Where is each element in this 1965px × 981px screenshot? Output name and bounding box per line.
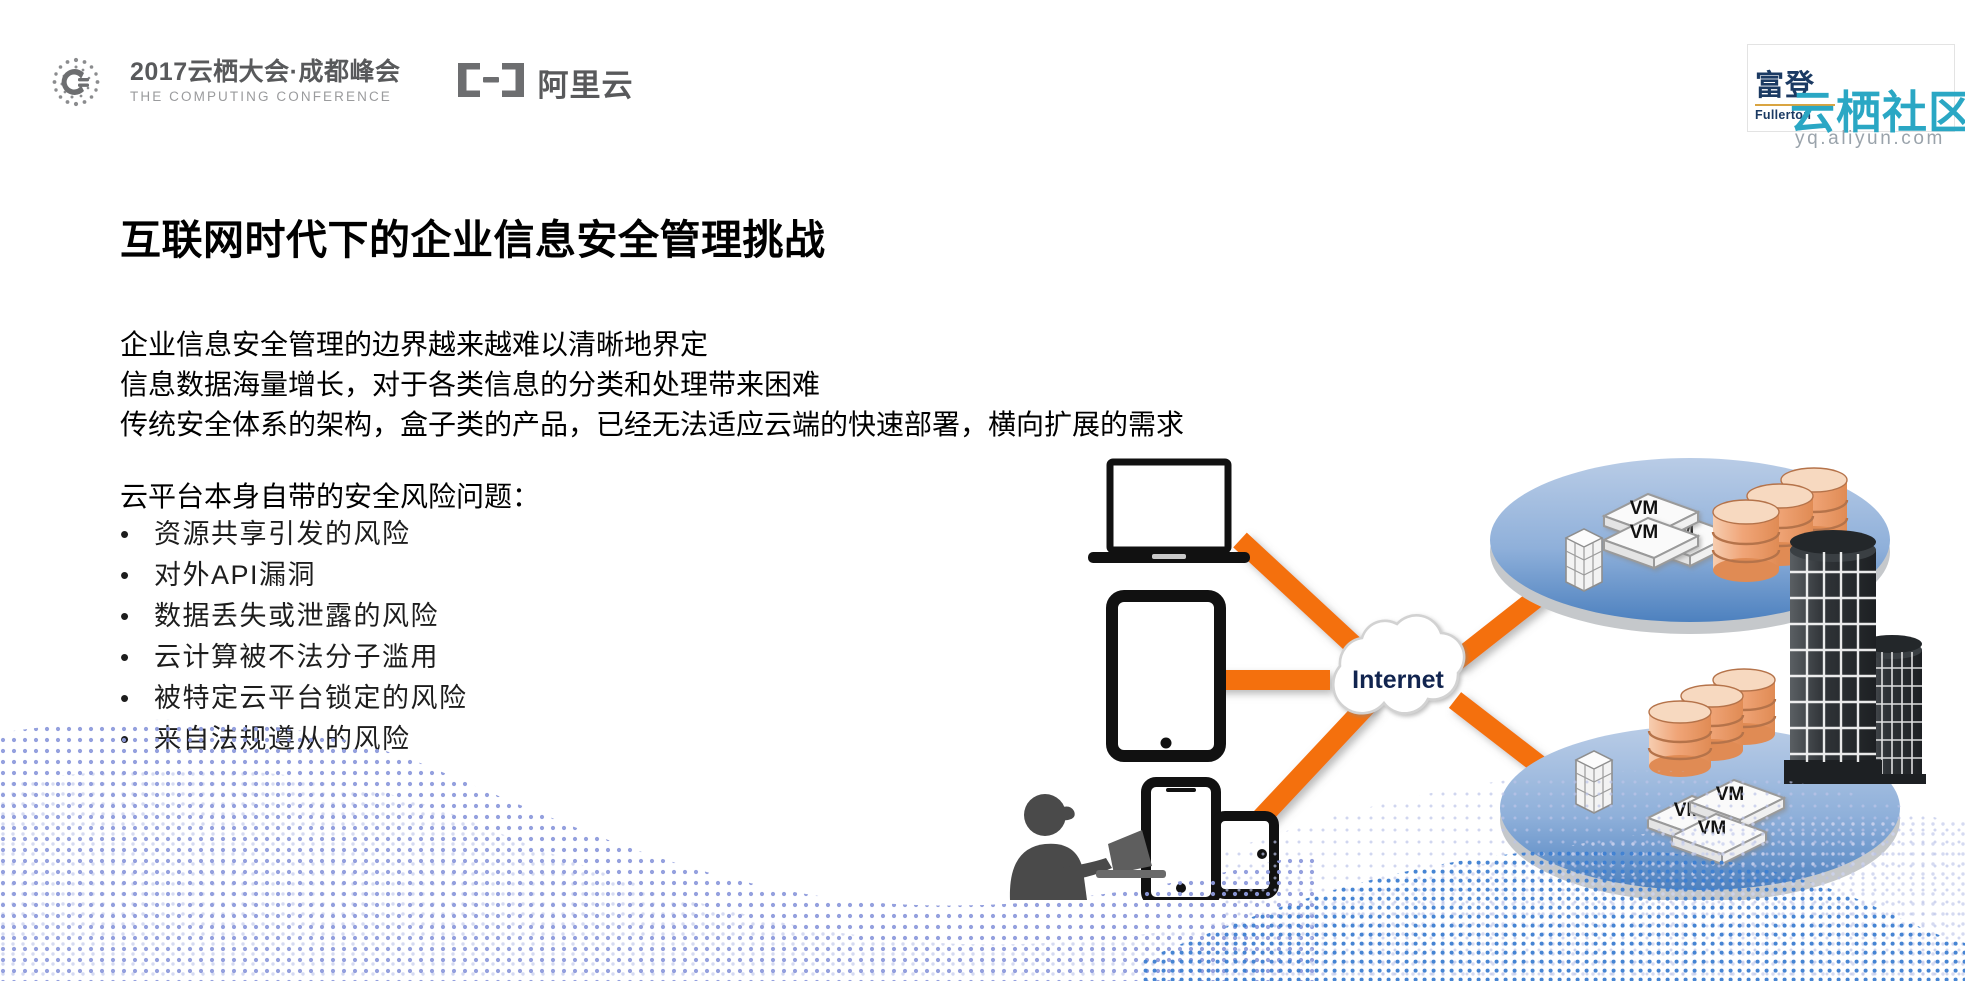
- internet-cloud: Internet: [1333, 615, 1464, 713]
- database-icon: [1649, 701, 1711, 777]
- list-item: • 来自法规遵从的风险: [120, 717, 468, 758]
- bullet-marker-icon: •: [120, 726, 154, 752]
- office-buildings-icon: [1784, 530, 1926, 784]
- list-item-label: 云计算被不法分子滥用: [154, 635, 439, 674]
- aliyun-bracket-icon: [454, 60, 528, 105]
- list-item-label: 被特定云平台锁定的风险: [154, 676, 468, 715]
- laptop-icon: [1088, 462, 1250, 563]
- bullet-marker-icon: •: [120, 603, 154, 629]
- list-item-label: 来自法规遵从的风险: [154, 717, 411, 756]
- yunqi-url-watermark: yq.aliyun.com: [1795, 128, 1945, 150]
- list-item-label: 资源共享引发的风险: [154, 512, 411, 551]
- risk-bullet-list: • 资源共享引发的风险 • 对外API漏洞 • 数据丢失或泄露的风险 • 云计算…: [120, 512, 468, 758]
- database-icon: [1713, 500, 1779, 582]
- computing-conference-icon: [48, 54, 104, 110]
- conference-title-zh: 2017云栖大会·成都峰会: [130, 60, 400, 85]
- list-item-label: 对外API漏洞: [154, 553, 316, 592]
- vm-label: VM: [1630, 522, 1659, 543]
- watermark-area: 富登 Fullerton 云栖社区 yq.aliyun.com: [1695, 42, 1963, 150]
- list-item: • 数据丢失或泄露的风险: [120, 594, 468, 635]
- list-item: • 云计算被不法分子滥用: [120, 635, 468, 676]
- bullets-heading: 云平台本身自带的安全风险问题：: [120, 475, 540, 515]
- internet-label: Internet: [1352, 666, 1444, 694]
- vm-label: VM: [1630, 498, 1659, 519]
- aliyun-brand-zh: 阿里云: [537, 60, 633, 105]
- vm-label: VM: [1716, 784, 1745, 805]
- network-switch-icon: [1566, 529, 1602, 591]
- bullet-marker-icon: •: [120, 685, 154, 711]
- list-item: • 对外API漏洞: [120, 553, 468, 594]
- header-left-logos: 2017云栖大会·成都峰会 THE COMPUTING CONFERENCE 阿…: [48, 54, 633, 110]
- list-item-label: 数据丢失或泄露的风险: [154, 594, 439, 633]
- phone-landscape-icon: [1216, 816, 1274, 894]
- tablet-icon: [1112, 596, 1220, 756]
- list-item: • 被特定云平台锁定的风险: [120, 676, 468, 717]
- page-title: 互联网时代下的企业信息安全管理挑战: [120, 206, 826, 266]
- bullet-marker-icon: •: [120, 562, 154, 588]
- cloud-architecture-diagram: Internet: [1000, 430, 1965, 900]
- list-item: • 资源共享引发的风险: [120, 512, 468, 553]
- vm-label: VM: [1698, 818, 1727, 839]
- conference-title-en: THE COMPUTING CONFERENCE: [130, 90, 400, 104]
- paragraph-line: 信息数据海量增长，对于各类信息的分类和处理带来困难: [120, 365, 1184, 405]
- aliyun-logo: 阿里云: [454, 60, 633, 105]
- bullet-marker-icon: •: [120, 521, 154, 547]
- smartphone-icon: [1146, 782, 1216, 900]
- bullet-marker-icon: •: [120, 644, 154, 670]
- network-switch-icon: [1576, 751, 1612, 813]
- slide-root: 2017云栖大会·成都峰会 THE COMPUTING CONFERENCE 阿…: [0, 0, 1965, 981]
- intro-paragraph: 企业信息安全管理的边界越来越难以清晰地界定 信息数据海量增长，对于各类信息的分类…: [120, 325, 1184, 444]
- paragraph-line: 企业信息安全管理的边界越来越难以清晰地界定: [120, 325, 1184, 365]
- conference-title-block: 2017云栖大会·成都峰会 THE COMPUTING CONFERENCE: [130, 60, 400, 104]
